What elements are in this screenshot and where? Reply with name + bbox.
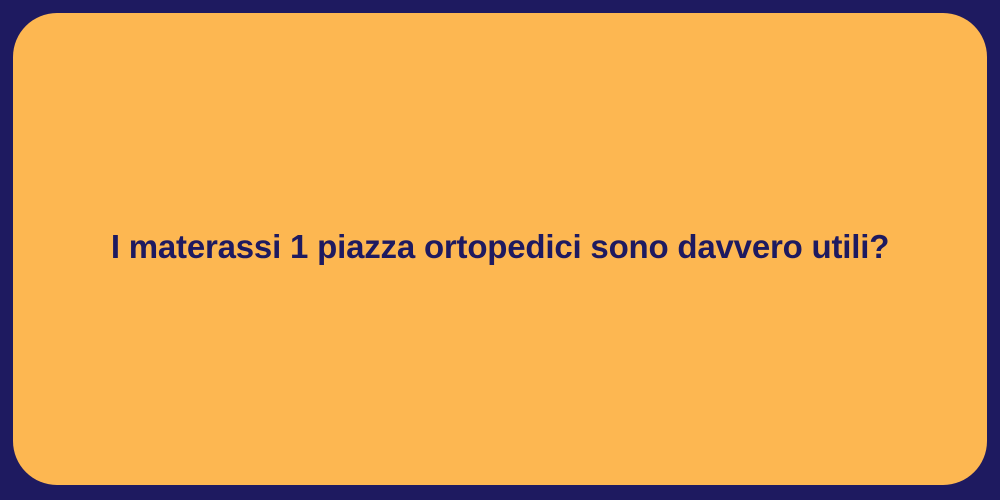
page-title: I materassi 1 piazza ortopedici sono dav… [111,226,889,267]
headline-container: I materassi 1 piazza ortopedici sono dav… [13,13,987,485]
card-panel: I materassi 1 piazza ortopedici sono dav… [13,13,987,485]
card-frame: I materassi 1 piazza ortopedici sono dav… [0,0,1000,500]
